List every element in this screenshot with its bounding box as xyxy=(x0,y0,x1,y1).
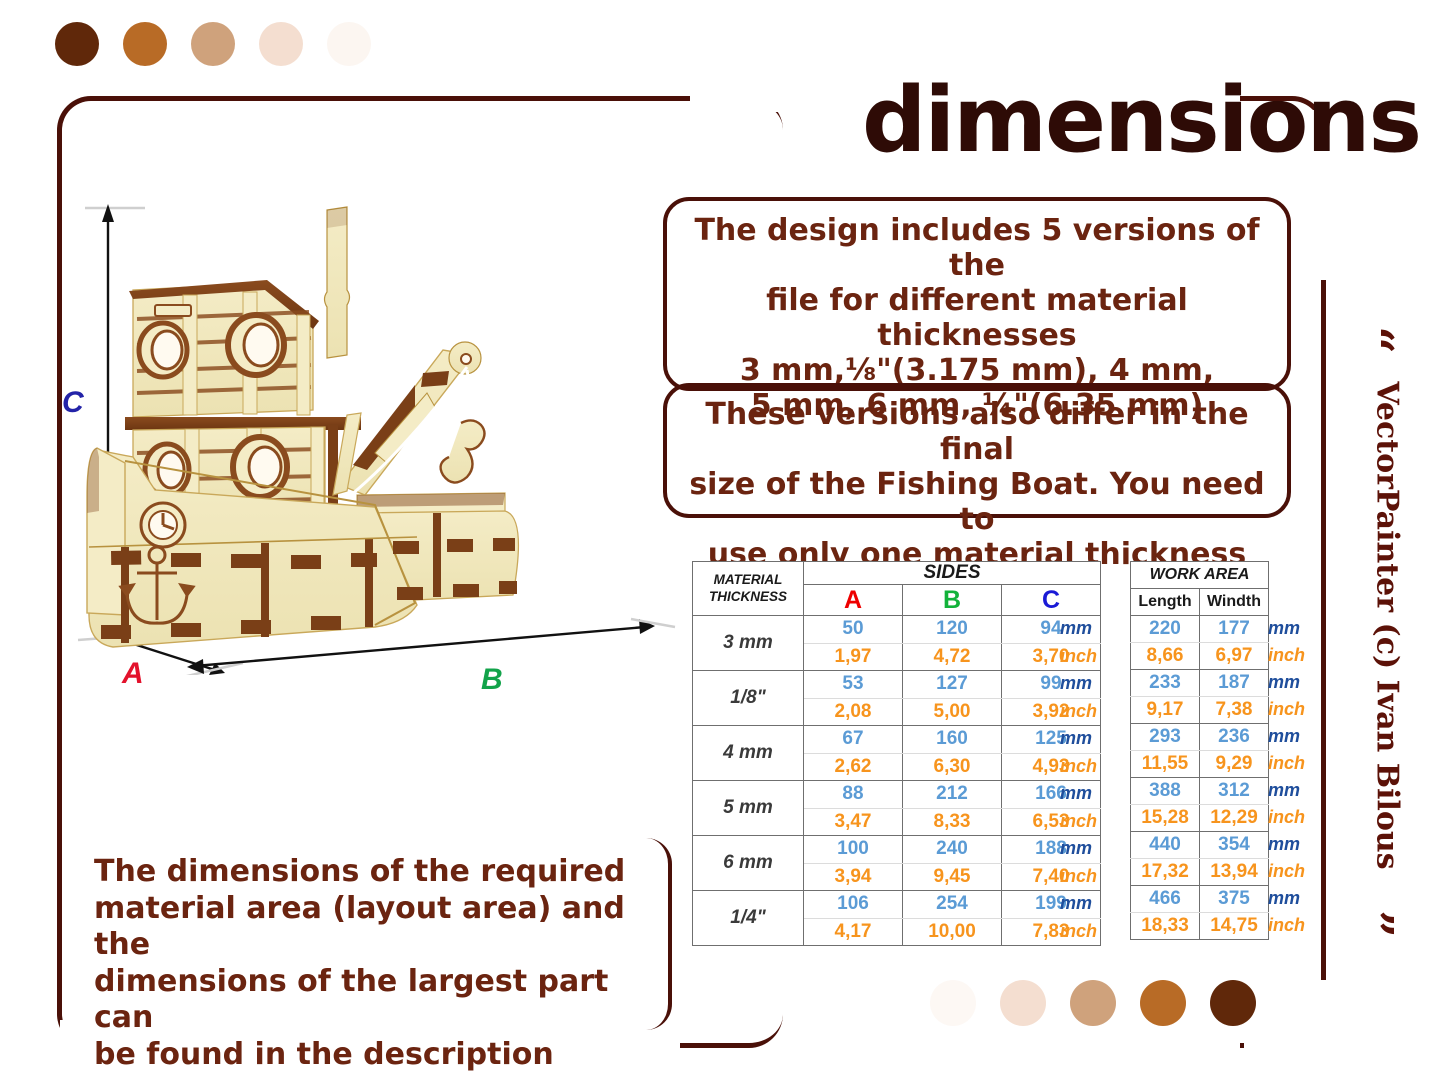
table-row: 293236 xyxy=(1131,724,1269,751)
value-inch: 12,29 xyxy=(1200,805,1269,832)
unit-label-mm: mm xyxy=(1268,672,1300,693)
value-inch: 8,66 xyxy=(1131,643,1200,670)
unit-label-inch: inch xyxy=(1060,701,1097,722)
callout-description: The dimensions of the required material … xyxy=(72,838,672,1030)
value-inch: 14,75 xyxy=(1200,913,1269,940)
color-swatch xyxy=(1140,980,1186,1026)
unit-label-mm: mm xyxy=(1060,783,1092,804)
color-swatch xyxy=(259,22,303,66)
color-swatch xyxy=(123,22,167,66)
callout-versions: The design includes 5 versions of the fi… xyxy=(663,197,1291,391)
value-mm: 293 xyxy=(1131,724,1200,751)
material-thickness-cell: 1/8" xyxy=(693,671,804,726)
table-row: 18,3314,75 xyxy=(1131,913,1269,940)
color-swatch xyxy=(1070,980,1116,1026)
unit-label-mm: mm xyxy=(1268,834,1300,855)
value-inch: 18,33 xyxy=(1131,913,1200,940)
unit-label-inch: inch xyxy=(1060,756,1097,777)
callout-description-line3: dimensions of the largest part can xyxy=(94,964,650,1037)
table-row: 17,3213,94 xyxy=(1131,859,1269,886)
value-mm: 88 xyxy=(804,781,903,809)
value-mm: 187 xyxy=(1200,670,1269,697)
table-row: 388312 xyxy=(1131,778,1269,805)
table-row: 8,666,97 xyxy=(1131,643,1269,670)
fishing-boat-illustration xyxy=(75,195,685,675)
value-inch: 3,47 xyxy=(804,808,903,836)
value-mm: 354 xyxy=(1200,832,1269,859)
value-mm: 254 xyxy=(903,891,1002,919)
color-swatch xyxy=(55,22,99,66)
color-swatch xyxy=(327,22,371,66)
value-inch: 4,17 xyxy=(804,918,903,946)
sides-dimensions-table: MATERIALTHICKNESSSIDESABC3 mm50120941,97… xyxy=(692,561,1101,946)
value-inch: 13,94 xyxy=(1200,859,1269,886)
unit-label-inch: inch xyxy=(1268,645,1305,666)
material-thickness-cell: 5 mm xyxy=(693,781,804,836)
unit-label-inch: inch xyxy=(1060,811,1097,832)
unit-label-mm: mm xyxy=(1268,726,1300,747)
value-inch: 8,33 xyxy=(903,808,1002,836)
unit-label-inch: inch xyxy=(1268,861,1305,882)
color-swatches-bottom xyxy=(930,980,1280,1026)
value-mm: 220 xyxy=(1131,616,1200,643)
table-row: 220177 xyxy=(1131,616,1269,643)
dimension-label-a: A xyxy=(122,657,144,691)
material-thickness-cell: 3 mm xyxy=(693,616,804,671)
unit-label-inch: inch xyxy=(1268,753,1305,774)
callout-sizes-line1: These versions also differ in the final xyxy=(683,397,1271,467)
value-inch: 11,55 xyxy=(1131,751,1200,778)
callout-sizes: These versions also differ in the final … xyxy=(663,383,1291,518)
value-inch: 9,29 xyxy=(1200,751,1269,778)
value-inch: 7,38 xyxy=(1200,697,1269,724)
work-area-table: WORK AREALengthWindth2201778,666,9723318… xyxy=(1130,561,1269,940)
quote-close-icon: ” xyxy=(1347,910,1403,938)
unit-label-mm: mm xyxy=(1268,618,1300,639)
crane xyxy=(333,342,485,495)
unit-label-mm: mm xyxy=(1060,618,1092,639)
unit-label-mm: mm xyxy=(1268,888,1300,909)
hull-porthole xyxy=(141,503,185,547)
unit-label-inch: inch xyxy=(1268,807,1305,828)
callout-versions-line2: file for different material thicknesses xyxy=(681,283,1273,353)
table-row: 9,177,38 xyxy=(1131,697,1269,724)
unit-label-inch: inch xyxy=(1268,915,1305,936)
work-col-header-length: Length xyxy=(1131,589,1200,616)
table-row: 6 mm100240188 xyxy=(693,836,1101,864)
value-inch: 2,08 xyxy=(804,698,903,726)
color-swatches-top xyxy=(55,22,395,66)
color-swatch xyxy=(930,980,976,1026)
value-mm: 100 xyxy=(804,836,903,864)
value-mm: 388 xyxy=(1131,778,1200,805)
value-inch: 15,28 xyxy=(1131,805,1200,832)
frame-gap-mask-top xyxy=(690,92,810,112)
value-mm: 177 xyxy=(1200,616,1269,643)
unit-label-mm: mm xyxy=(1060,838,1092,859)
value-inch: 17,32 xyxy=(1131,859,1200,886)
table-row: 1/8"5312799 xyxy=(693,671,1101,699)
value-mm: 312 xyxy=(1200,778,1269,805)
table-row: 1/4"106254199 xyxy=(693,891,1101,919)
value-inch: 3,94 xyxy=(804,863,903,891)
material-thickness-cell: 1/4" xyxy=(693,891,804,946)
poster-canvas: dimensions xyxy=(0,0,1445,1084)
sides-col-header-c: C xyxy=(1002,585,1101,616)
value-inch: 6,97 xyxy=(1200,643,1269,670)
table-row: 440354 xyxy=(1131,832,1269,859)
sides-col-header-a: A xyxy=(804,585,903,616)
color-swatch xyxy=(191,22,235,66)
work-col-header-width: Windth xyxy=(1200,589,1269,616)
color-swatch xyxy=(1210,980,1256,1026)
callout-description-line4: be found in the description xyxy=(94,1037,650,1074)
watermark-text: VectorPainter (c) Ivan Bilous xyxy=(1370,336,1405,916)
unit-label-mm: mm xyxy=(1060,893,1092,914)
value-mm: 466 xyxy=(1131,886,1200,913)
material-thickness-cell: 4 mm xyxy=(693,726,804,781)
value-mm: 160 xyxy=(903,726,1002,754)
callout-description-line2: material area (layout area) and the xyxy=(94,891,650,964)
table-row: 233187 xyxy=(1131,670,1269,697)
value-mm: 67 xyxy=(804,726,903,754)
value-inch: 1,97 xyxy=(804,643,903,671)
unit-label-mm: mm xyxy=(1060,728,1092,749)
table-row: 466375 xyxy=(1131,886,1269,913)
sides-header-material: MATERIALTHICKNESS xyxy=(693,562,804,616)
callout-versions-line1: The design includes 5 versions of the xyxy=(681,213,1273,283)
table-row: 15,2812,29 xyxy=(1131,805,1269,832)
work-header-group: WORK AREA xyxy=(1131,562,1269,589)
unit-label-mm: mm xyxy=(1060,673,1092,694)
callout-description-line1: The dimensions of the required xyxy=(94,854,650,891)
watermark: “ VectorPainter (c) Ivan Bilous ” xyxy=(1357,318,1417,958)
value-mm: 236 xyxy=(1200,724,1269,751)
value-mm: 240 xyxy=(903,836,1002,864)
value-inch: 10,00 xyxy=(903,918,1002,946)
unit-label-inch: inch xyxy=(1060,921,1097,942)
value-mm: 120 xyxy=(903,616,1002,644)
material-thickness-cell: 6 mm xyxy=(693,836,804,891)
value-mm: 50 xyxy=(804,616,903,644)
value-inch: 2,62 xyxy=(804,753,903,781)
value-inch: 5,00 xyxy=(903,698,1002,726)
unit-label-inch: inch xyxy=(1060,646,1097,667)
value-mm: 212 xyxy=(903,781,1002,809)
callout-sizes-line2: size of the Fishing Boat. You need to xyxy=(683,467,1271,537)
unit-label-inch: inch xyxy=(1268,699,1305,720)
dimension-label-b: B xyxy=(481,663,503,697)
value-mm: 53 xyxy=(804,671,903,699)
value-mm: 127 xyxy=(903,671,1002,699)
value-mm: 233 xyxy=(1131,670,1200,697)
dimension-label-c: C xyxy=(62,386,84,420)
value-inch: 6,30 xyxy=(903,753,1002,781)
value-inch: 4,72 xyxy=(903,643,1002,671)
table-row: 4 mm67160125 xyxy=(693,726,1101,754)
sides-header-group: SIDES xyxy=(804,562,1101,585)
unit-label-mm: mm xyxy=(1268,780,1300,801)
sides-col-header-b: B xyxy=(903,585,1002,616)
value-inch: 9,45 xyxy=(903,863,1002,891)
boat-body xyxy=(87,207,523,647)
color-swatch xyxy=(1000,980,1046,1026)
table-row: 11,559,29 xyxy=(1131,751,1269,778)
table-row: 5 mm88212166 xyxy=(693,781,1101,809)
unit-label-inch: inch xyxy=(1060,866,1097,887)
value-mm: 440 xyxy=(1131,832,1200,859)
table-row: 3 mm5012094 xyxy=(693,616,1101,644)
value-inch: 9,17 xyxy=(1131,697,1200,724)
page-title: dimensions xyxy=(862,76,1420,166)
value-mm: 106 xyxy=(804,891,903,919)
value-mm: 375 xyxy=(1200,886,1269,913)
